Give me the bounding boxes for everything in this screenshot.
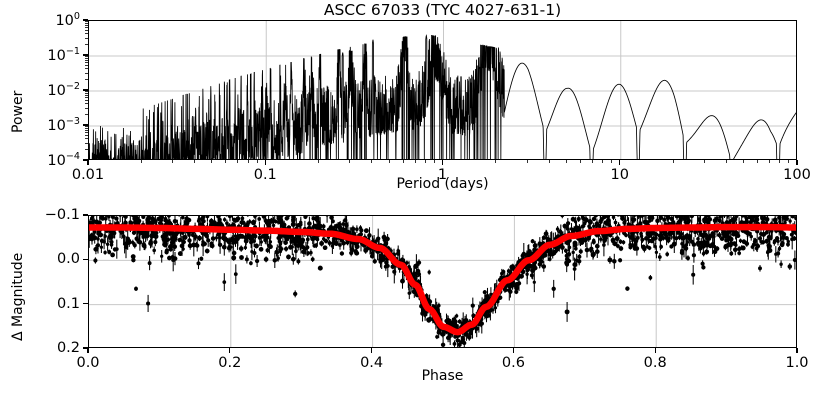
x-tick <box>513 348 514 353</box>
x-tick <box>442 160 443 165</box>
x-minor-tick <box>403 160 404 163</box>
x-minor-tick <box>172 160 173 163</box>
y-minor-tick <box>85 60 88 61</box>
x-tick-label: 10 <box>611 167 629 183</box>
x-minor-tick <box>673 160 674 163</box>
lightcurve-plot <box>89 216 797 348</box>
periodogram-panel <box>88 20 797 160</box>
x-tick-label: 1 <box>438 167 447 183</box>
x-minor-tick <box>257 160 258 163</box>
y-tick-label: −0.1 <box>8 207 80 223</box>
x-minor-tick <box>611 160 612 163</box>
x-tick <box>265 160 266 165</box>
lightcurve-panel <box>88 215 797 348</box>
y-minor-tick <box>85 132 88 133</box>
x-minor-tick <box>141 160 142 163</box>
x-minor-tick <box>248 160 249 163</box>
x-tick-label: 0.6 <box>502 355 525 371</box>
x-minor-tick <box>726 160 727 163</box>
y-minor-tick <box>85 68 88 69</box>
x-minor-tick <box>434 160 435 163</box>
x-minor-tick <box>194 160 195 163</box>
y-tick-label: 100 <box>8 11 80 29</box>
y-minor-tick <box>85 30 88 31</box>
y-tick <box>83 159 88 160</box>
y-minor-tick <box>85 33 88 34</box>
y-tick <box>83 214 88 215</box>
x-minor-tick <box>788 160 789 163</box>
x-tick <box>796 160 797 165</box>
x-minor-tick <box>779 160 780 163</box>
figure-canvas: ASCC 67033 (TYC 4027-631-1) Power Period… <box>0 0 830 415</box>
x-tick <box>371 348 372 353</box>
y-minor-tick <box>85 73 88 74</box>
x-minor-tick <box>389 160 390 163</box>
y-tick-label: 10−3 <box>8 116 80 134</box>
y-minor-tick <box>85 58 88 59</box>
y-minor-tick <box>85 114 88 115</box>
y-tick-label: 0.2 <box>8 340 80 356</box>
x-minor-tick <box>371 160 372 163</box>
x-tick-label: 100 <box>783 167 811 183</box>
x-minor-tick <box>415 160 416 163</box>
y-minor-tick <box>85 38 88 39</box>
x-minor-tick <box>527 160 528 163</box>
x-tick-label: 0.01 <box>72 167 104 183</box>
x-minor-tick <box>592 160 593 163</box>
x-minor-tick <box>225 160 226 163</box>
x-tick-label: 0.1 <box>254 167 277 183</box>
x-tick <box>229 348 230 353</box>
y-minor-tick <box>85 135 88 136</box>
y-tick-label: 0.0 <box>8 251 80 267</box>
y-tick-label: 10−2 <box>8 81 80 99</box>
x-minor-tick <box>566 160 567 163</box>
x-tick <box>796 348 797 353</box>
x-minor-tick <box>495 160 496 163</box>
x-tick <box>87 160 88 165</box>
y-minor-tick <box>85 21 88 22</box>
y-minor-tick <box>85 103 88 104</box>
y-minor-tick <box>85 143 88 144</box>
x-minor-tick <box>769 160 770 163</box>
y-tick <box>83 259 88 260</box>
y-minor-tick <box>85 79 88 80</box>
phase-axis-label: Phase <box>88 368 797 384</box>
y-tick <box>83 347 88 348</box>
x-minor-tick <box>580 160 581 163</box>
x-tick-label: 0.2 <box>218 355 241 371</box>
x-minor-tick <box>349 160 350 163</box>
periodogram-plot <box>89 21 797 160</box>
y-minor-tick <box>85 62 88 63</box>
x-minor-tick <box>211 160 212 163</box>
y-tick <box>83 303 88 304</box>
y-minor-tick <box>85 44 88 45</box>
x-minor-tick <box>704 160 705 163</box>
x-tick <box>619 160 620 165</box>
y-minor-tick <box>85 23 88 24</box>
x-minor-tick <box>318 160 319 163</box>
y-minor-tick <box>85 130 88 131</box>
y-minor-tick <box>85 93 88 94</box>
y-minor-tick <box>85 27 88 28</box>
x-minor-tick <box>757 160 758 163</box>
y-minor-tick <box>85 108 88 109</box>
y-minor-tick <box>85 95 88 96</box>
x-tick-label: 0.8 <box>644 355 667 371</box>
x-tick <box>655 348 656 353</box>
x-minor-tick <box>425 160 426 163</box>
x-minor-tick <box>549 160 550 163</box>
y-minor-tick <box>85 149 88 150</box>
x-tick-label: 0.0 <box>76 355 99 371</box>
x-minor-tick <box>743 160 744 163</box>
y-minor-tick <box>85 97 88 98</box>
y-tick-label: 0.1 <box>8 296 80 312</box>
y-tick-label: 10−1 <box>8 46 80 64</box>
y-minor-tick <box>85 56 88 57</box>
x-tick-label: 0.4 <box>360 355 383 371</box>
y-minor-tick <box>85 25 88 26</box>
x-minor-tick <box>602 160 603 163</box>
y-minor-tick <box>85 100 88 101</box>
figure-title: ASCC 67033 (TYC 4027-631-1) <box>88 1 797 19</box>
x-minor-tick <box>237 160 238 163</box>
x-tick <box>87 348 88 353</box>
y-minor-tick <box>85 138 88 139</box>
y-minor-tick <box>85 128 88 129</box>
y-minor-tick <box>85 126 88 127</box>
y-minor-tick <box>85 91 88 92</box>
x-tick-label: 1.0 <box>785 355 808 371</box>
y-minor-tick <box>85 65 88 66</box>
y-tick-label: 10−4 <box>8 151 80 169</box>
